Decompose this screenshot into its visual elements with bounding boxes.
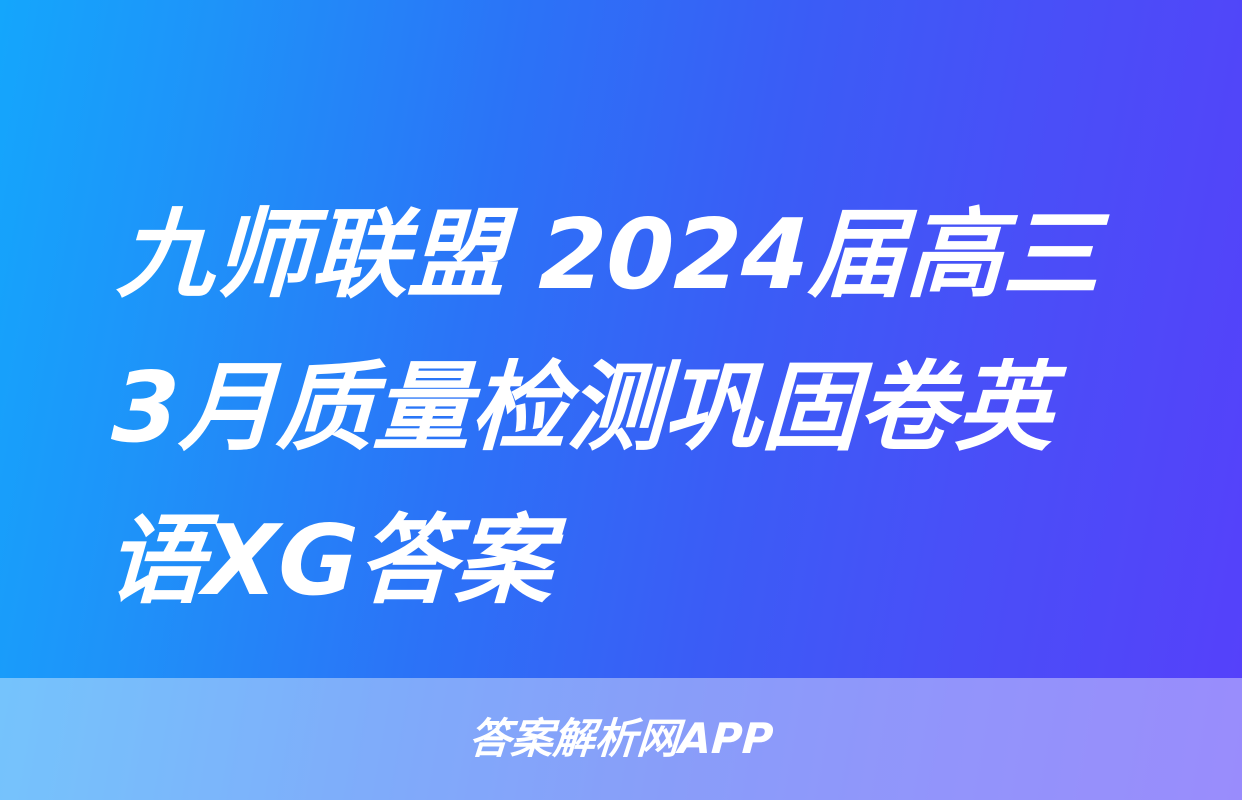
poster-canvas: 九师联盟 2024届高三3月质量检测巩固卷英语XG答案 答案解析网APP	[0, 0, 1242, 800]
page-title: 九师联盟 2024届高三3月质量检测巩固卷英语XG答案	[104, 178, 1138, 637]
poster-title-block: 九师联盟 2024届高三3月质量检测巩固卷英语XG答案	[0, 178, 1242, 637]
footer-watermark-band: 答案解析网APP	[0, 678, 1242, 800]
watermark-label: 答案解析网APP	[467, 715, 774, 763]
